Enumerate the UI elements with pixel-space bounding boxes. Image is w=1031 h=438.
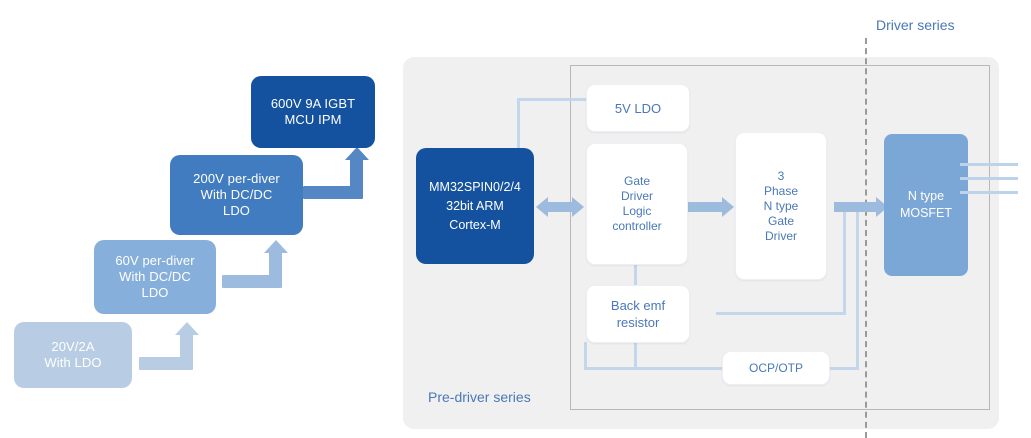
conn-feedback-ocp-vertical bbox=[856, 208, 859, 370]
conn-backemf-down bbox=[634, 342, 637, 370]
conn-mcu-to-ldo-horizontal bbox=[517, 98, 587, 101]
conn-ocp-left-run bbox=[584, 367, 725, 370]
ladder-box-200v-line-1: 200V per-diver bbox=[193, 171, 280, 187]
ladder-box-200v-line-3: LDO bbox=[223, 203, 250, 219]
ladder-box-600v-line-2: MCU IPM bbox=[284, 112, 341, 128]
block-back-emf-line-2: resistor bbox=[617, 314, 660, 331]
ladder-box-60v-line-3: LDO bbox=[141, 285, 168, 301]
ladder-arrow-1 bbox=[139, 322, 207, 370]
block-mosfet-line-1: N type bbox=[908, 188, 944, 205]
ladder-box-600v-line-1: 600V 9A IGBT bbox=[271, 96, 355, 112]
block-phase-gate-line-3: N type bbox=[764, 199, 799, 214]
diagram-canvas: 20V/2A With LDO 60V per-diver With DC/DC… bbox=[0, 0, 1031, 438]
block-phase-gate-line-5: Driver bbox=[765, 229, 797, 244]
block-n-type-mosfet[interactable]: N type MOSFET bbox=[884, 134, 968, 276]
block-gate-logic-line-2: Driver bbox=[621, 189, 653, 204]
driver-series-label: Driver series bbox=[876, 17, 955, 33]
block-back-emf-resistor[interactable]: Back emf resistor bbox=[586, 285, 690, 343]
block-mosfet-line-2: MOSFET bbox=[900, 205, 952, 222]
pre-driver-series-label: Pre-driver series bbox=[428, 389, 531, 405]
block-back-emf-line-1: Back emf bbox=[611, 297, 665, 314]
block-phase-gate-line-2: Phase bbox=[764, 184, 798, 199]
block-gate-driver-logic-controller[interactable]: Gate Driver Logic controller bbox=[586, 143, 688, 265]
block-mcu-line-1: MM32SPIN0/2/4 bbox=[429, 178, 521, 197]
conn-gatelogic-to-backemf bbox=[634, 264, 637, 286]
arrow-gatelogic-phasedriver bbox=[688, 197, 734, 217]
ladder-box-60v-line-2: With DC/DC bbox=[119, 269, 191, 285]
block-mcu-line-2: 32bit ARM bbox=[446, 197, 504, 216]
driver-series-divider bbox=[865, 38, 867, 438]
output-phase-line-3 bbox=[960, 191, 1018, 194]
output-phase-line-1 bbox=[960, 163, 1018, 166]
arrow-mcu-gatelogic bbox=[536, 196, 584, 218]
ladder-box-600v[interactable]: 600V 9A IGBT MCU IPM bbox=[251, 76, 375, 148]
conn-feedback-backemf-vertical bbox=[843, 208, 846, 315]
block-5v-ldo-label: 5V LDO bbox=[615, 100, 661, 117]
block-mcu-mm32spin[interactable]: MM32SPIN0/2/4 32bit ARM Cortex-M bbox=[416, 148, 534, 264]
arrow-phasedriver-mosfet bbox=[834, 197, 888, 217]
block-gate-logic-line-1: Gate bbox=[624, 174, 650, 189]
block-phase-gate-line-1: 3 bbox=[778, 169, 785, 184]
ladder-arrow-3 bbox=[303, 147, 379, 199]
block-gate-logic-line-4: controller bbox=[612, 219, 661, 234]
output-phase-line-2 bbox=[960, 177, 1018, 180]
ladder-box-200v[interactable]: 200V per-diver With DC/DC LDO bbox=[170, 155, 303, 235]
ladder-box-60v-line-1: 60V per-diver bbox=[115, 253, 194, 269]
conn-feedback-backemf-horizontal bbox=[716, 312, 846, 315]
ladder-arrow-2 bbox=[222, 240, 298, 288]
ladder-box-20v-line-1: 20V/2A bbox=[51, 339, 94, 355]
conn-mcu-to-ldo-vertical bbox=[517, 98, 520, 150]
ladder-box-20v[interactable]: 20V/2A With LDO bbox=[14, 322, 132, 388]
block-ocp-otp-label: OCP/OTP bbox=[749, 361, 803, 376]
block-3phase-ntype-gate-driver[interactable]: 3 Phase N type Gate Driver bbox=[735, 132, 827, 280]
ladder-box-60v[interactable]: 60V per-diver With DC/DC LDO bbox=[94, 240, 216, 314]
block-mcu-line-3: Cortex-M bbox=[449, 216, 500, 235]
block-gate-logic-line-3: Logic bbox=[623, 204, 652, 219]
block-phase-gate-line-4: Gate bbox=[768, 214, 794, 229]
block-5v-ldo[interactable]: 5V LDO bbox=[586, 84, 690, 132]
ladder-box-20v-line-2: With LDO bbox=[44, 355, 101, 371]
conn-ocp-left-riser bbox=[584, 342, 587, 370]
ladder-box-200v-line-2: With DC/DC bbox=[201, 187, 273, 203]
block-ocp-otp[interactable]: OCP/OTP bbox=[722, 351, 830, 385]
